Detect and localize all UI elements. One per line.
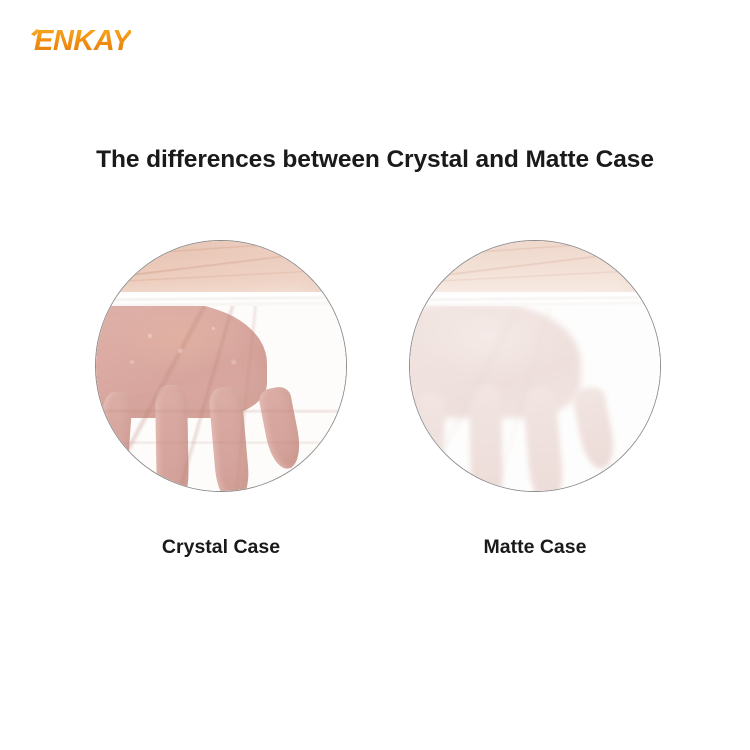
crystal-scene bbox=[95, 240, 347, 492]
caption-matte-case: Matte Case bbox=[409, 536, 661, 559]
comparison-item-matte bbox=[409, 240, 661, 492]
glass-sheen bbox=[95, 240, 347, 492]
caption-crystal-case: Crystal Case bbox=[95, 536, 347, 559]
comparison-row bbox=[0, 240, 750, 495]
comparison-item-crystal bbox=[95, 240, 347, 492]
crystal-case-photo bbox=[95, 240, 347, 492]
matte-case-photo bbox=[409, 240, 661, 492]
page-title: The differences between Crystal and Matt… bbox=[0, 146, 750, 174]
brand-logo: ENKAY bbox=[34, 27, 131, 56]
matte-scene bbox=[409, 240, 661, 492]
matte-haze-overlay bbox=[409, 240, 661, 492]
